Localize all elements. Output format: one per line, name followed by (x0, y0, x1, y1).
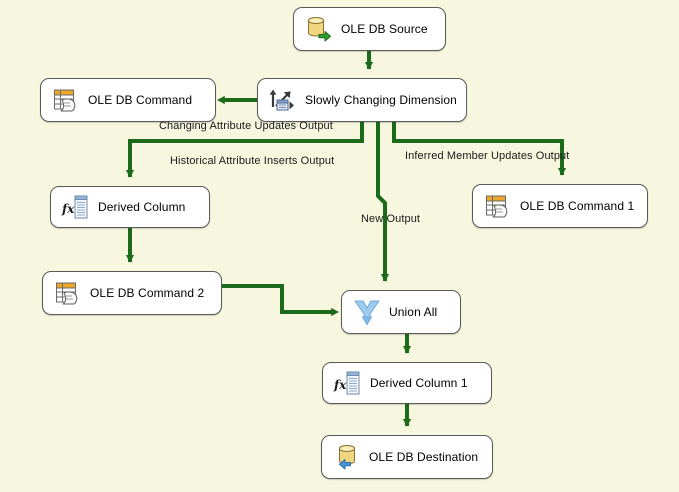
edge-scd-to-union-all (378, 122, 385, 281)
node-ole-db-command[interactable]: OLE DB Command (40, 78, 216, 122)
node-derived-column[interactable]: fx Derived Column (50, 186, 210, 228)
node-slowly-changing-dimension[interactable]: Slowly Changing Dimension (257, 78, 467, 122)
node-ole-db-command-2[interactable]: OLE DB Command 2 (42, 271, 222, 315)
node-derived-column-1[interactable]: fx Derived Column 1 (322, 362, 492, 404)
node-label: Derived Column (98, 200, 185, 214)
edge-label-new-output: New Output (361, 213, 420, 225)
slowly-changing-dimension-icon (268, 85, 298, 115)
data-flow-canvas[interactable]: OLE DB Source OLE DB Command (0, 0, 679, 492)
node-union-all[interactable]: Union All (341, 290, 461, 334)
node-label: OLE DB Destination (369, 450, 478, 464)
union-all-funnel-icon (352, 297, 382, 327)
table-scroll-icon (483, 191, 513, 221)
node-label: Derived Column 1 (370, 376, 468, 390)
node-label: OLE DB Command 2 (90, 286, 204, 300)
derived-column-fx-icon: fx (333, 368, 363, 398)
edge-ole-db-command-2-to-union-all (222, 286, 332, 312)
node-ole-db-source[interactable]: OLE DB Source (293, 7, 446, 51)
edge-label-inferred-member-updates-output: Inferred Member Updates Output (405, 150, 569, 162)
database-cylinder-in-icon (332, 442, 362, 472)
node-label: OLE DB Source (341, 22, 428, 36)
node-ole-db-command-1[interactable]: OLE DB Command 1 (472, 184, 648, 228)
derived-column-fx-icon: fx (61, 192, 91, 222)
database-cylinder-out-icon (304, 14, 334, 44)
table-scroll-icon (53, 278, 83, 308)
edge-scd-to-ole-db-command-1 (394, 122, 562, 175)
svg-text:fx: fx (61, 202, 75, 216)
table-scroll-icon (51, 85, 81, 115)
node-label: OLE DB Command (88, 93, 192, 107)
node-label: Slowly Changing Dimension (305, 93, 457, 107)
node-label: OLE DB Command 1 (520, 199, 634, 213)
connector-layer (0, 0, 679, 492)
edge-label-historical-attribute-inserts-output: Historical Attribute Inserts Output (170, 155, 334, 167)
edge-label-changing-attribute-updates-output: Changing Attribute Updates Output (159, 120, 333, 132)
node-label: Union All (389, 305, 437, 319)
node-ole-db-destination[interactable]: OLE DB Destination (321, 435, 493, 479)
svg-text:fx: fx (333, 378, 347, 392)
